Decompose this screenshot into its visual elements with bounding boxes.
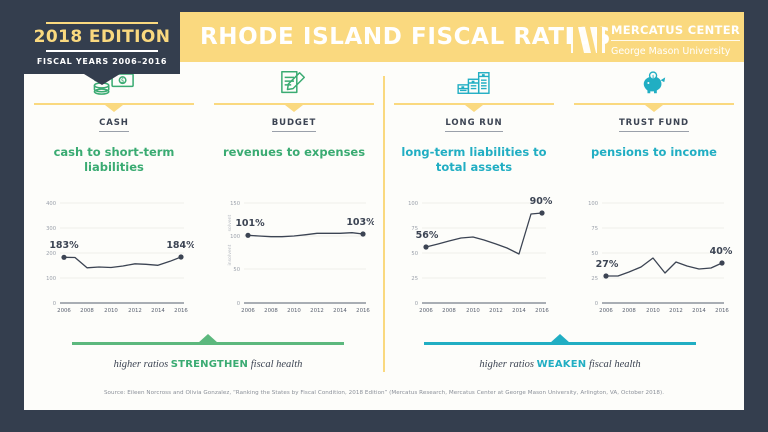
svg-text:2014: 2014 [333,308,347,314]
svg-text:2008: 2008 [442,308,456,314]
caption-pre: higher ratios [479,359,536,370]
svg-text:2016: 2016 [535,308,549,314]
caption-strong: WEAKEN [537,359,587,370]
infographic-page: 2018 EDITION FISCAL YEARS 2006–2016 RHOD… [0,0,768,432]
logo-line-2: George Mason University [611,46,730,57]
svg-text:2016: 2016 [715,308,729,314]
svg-text:2010: 2010 [287,308,301,314]
caption-post: fiscal health [586,359,640,370]
svg-text:25: 25 [411,276,418,282]
badge-rule-top [46,22,158,24]
svg-text:400: 400 [46,201,56,207]
edition-badge: 2018 EDITION FISCAL YEARS 2006–2016 [24,12,180,74]
svg-text:2010: 2010 [466,308,480,314]
svg-text:183%: 183% [49,240,79,251]
rule-notch [465,105,483,112]
svg-text:100: 100 [46,276,56,282]
rule-notch [105,105,123,112]
divider-rule-cash [34,100,194,112]
svg-text:0: 0 [595,301,598,307]
svg-text:2010: 2010 [646,308,660,314]
svg-text:2012: 2012 [128,308,142,314]
edition-subtitle: FISCAL YEARS 2006–2016 [24,57,180,66]
svg-text:$: $ [652,74,655,80]
svg-text:2006: 2006 [241,308,255,314]
page-title: RHODE ISLAND FISCAL RATIOS [200,12,611,62]
mercatus-logo: MERCATUS CENTER George Mason University [571,22,740,59]
line-chart-trust-fund: 100 75 50 25 0 27% 40% 2006 [574,191,734,321]
svg-text:2012: 2012 [489,308,503,314]
category-label-long-run: LONG RUN [445,118,502,132]
svg-text:50: 50 [411,251,418,257]
category-label-trust-fund: TRUST FUND [619,118,689,132]
svg-text:2016: 2016 [174,308,188,314]
svg-text:2006: 2006 [599,308,613,314]
svg-text:2012: 2012 [310,308,324,314]
svg-text:2008: 2008 [264,308,278,314]
svg-text:101%: 101% [235,218,265,229]
svg-text:25: 25 [591,276,598,282]
svg-text:2014: 2014 [151,308,165,314]
mercatus-logo-text: MERCATUS CENTER George Mason University [611,22,740,59]
caption-strong: STRENGTHEN [171,359,248,370]
svg-text:100: 100 [230,234,240,240]
svg-text:40%: 40% [710,246,733,257]
footer-area: higher ratios STRENGTHEN fiscal health h… [24,336,744,410]
divider-rule-trust-fund [574,100,734,112]
ratio-description-cash: cash to short-term liabilities [34,145,194,177]
svg-text:0: 0 [237,301,240,307]
edition-title: 2018 EDITION [24,27,180,47]
strengthen-bar [38,336,378,348]
line-chart-budget: 150 100 50 0 solvent insolvent 101% 103% [214,191,374,321]
logo-line-1: MERCATUS CENTER [611,23,740,37]
divider-rule-long-run [394,100,554,112]
piggy-bank-icon: $ [574,62,734,100]
content-panel: $ CASH cash to short-term liabilities [24,62,744,410]
ratio-description-long-run: long-term liabilities to total assets [394,145,554,177]
rule-notch [645,105,663,112]
svg-text:50: 50 [591,251,598,257]
svg-text:2012: 2012 [669,308,683,314]
svg-text:2006: 2006 [419,308,433,314]
svg-text:300: 300 [46,226,56,232]
ratio-description-trust-fund: pensions to income [574,145,734,177]
svg-text:2016: 2016 [356,308,370,314]
long-run-bars-icon [394,62,554,100]
svg-text:75: 75 [591,226,598,232]
svg-text:103%: 103% [346,217,374,228]
line-chart-long-run: 100 75 50 25 0 56% 90% 2006 [394,191,554,321]
svg-text:2008: 2008 [80,308,94,314]
strengthen-caption: higher ratios STRENGTHEN fiscal health [38,359,378,370]
svg-text:90%: 90% [530,196,553,207]
logo-divider [611,40,740,41]
caption-pre: higher ratios [114,359,171,370]
category-label-cash: CASH [99,118,129,132]
footer-right: higher ratios WEAKEN fiscal health [390,336,730,410]
mercatus-mark-icon [571,27,605,53]
svg-text:0: 0 [53,301,56,307]
footer-left: higher ratios STRENGTHEN fiscal health [38,336,378,410]
svg-text:$: $ [121,78,125,84]
weaken-bar [390,336,730,348]
svg-text:184%: 184% [166,240,194,251]
category-label-budget: BUDGET [272,118,316,132]
svg-text:100: 100 [408,201,418,207]
svg-text:insolvent: insolvent [227,244,233,265]
svg-text:27%: 27% [596,259,619,270]
line-chart-cash: 400 300 200 100 0 183% 184% [34,191,194,321]
svg-text:2014: 2014 [512,308,526,314]
ratio-description-budget: revenues to expenses [214,145,374,177]
svg-text:200: 200 [46,251,56,257]
svg-text:solvent: solvent [227,214,233,231]
svg-text:50: 50 [233,267,240,273]
source-note: Source: Eileen Norcross and Olivia Gonza… [24,390,744,396]
svg-text:56%: 56% [416,230,439,241]
svg-text:2014: 2014 [692,308,706,314]
up-arrow-icon [198,334,218,343]
divider-rule-budget [214,100,374,112]
caption-post: fiscal health [248,359,302,370]
rule-notch [285,105,303,112]
svg-text:100: 100 [588,201,598,207]
svg-text:2008: 2008 [622,308,636,314]
svg-text:2010: 2010 [104,308,118,314]
up-arrow-icon [550,334,570,343]
svg-text:150: 150 [230,201,240,207]
badge-rule-bottom [46,50,158,52]
svg-text:2006: 2006 [57,308,71,314]
budget-document-icon [214,62,374,100]
weaken-caption: higher ratios WEAKEN fiscal health [390,359,730,370]
svg-text:0: 0 [415,301,418,307]
